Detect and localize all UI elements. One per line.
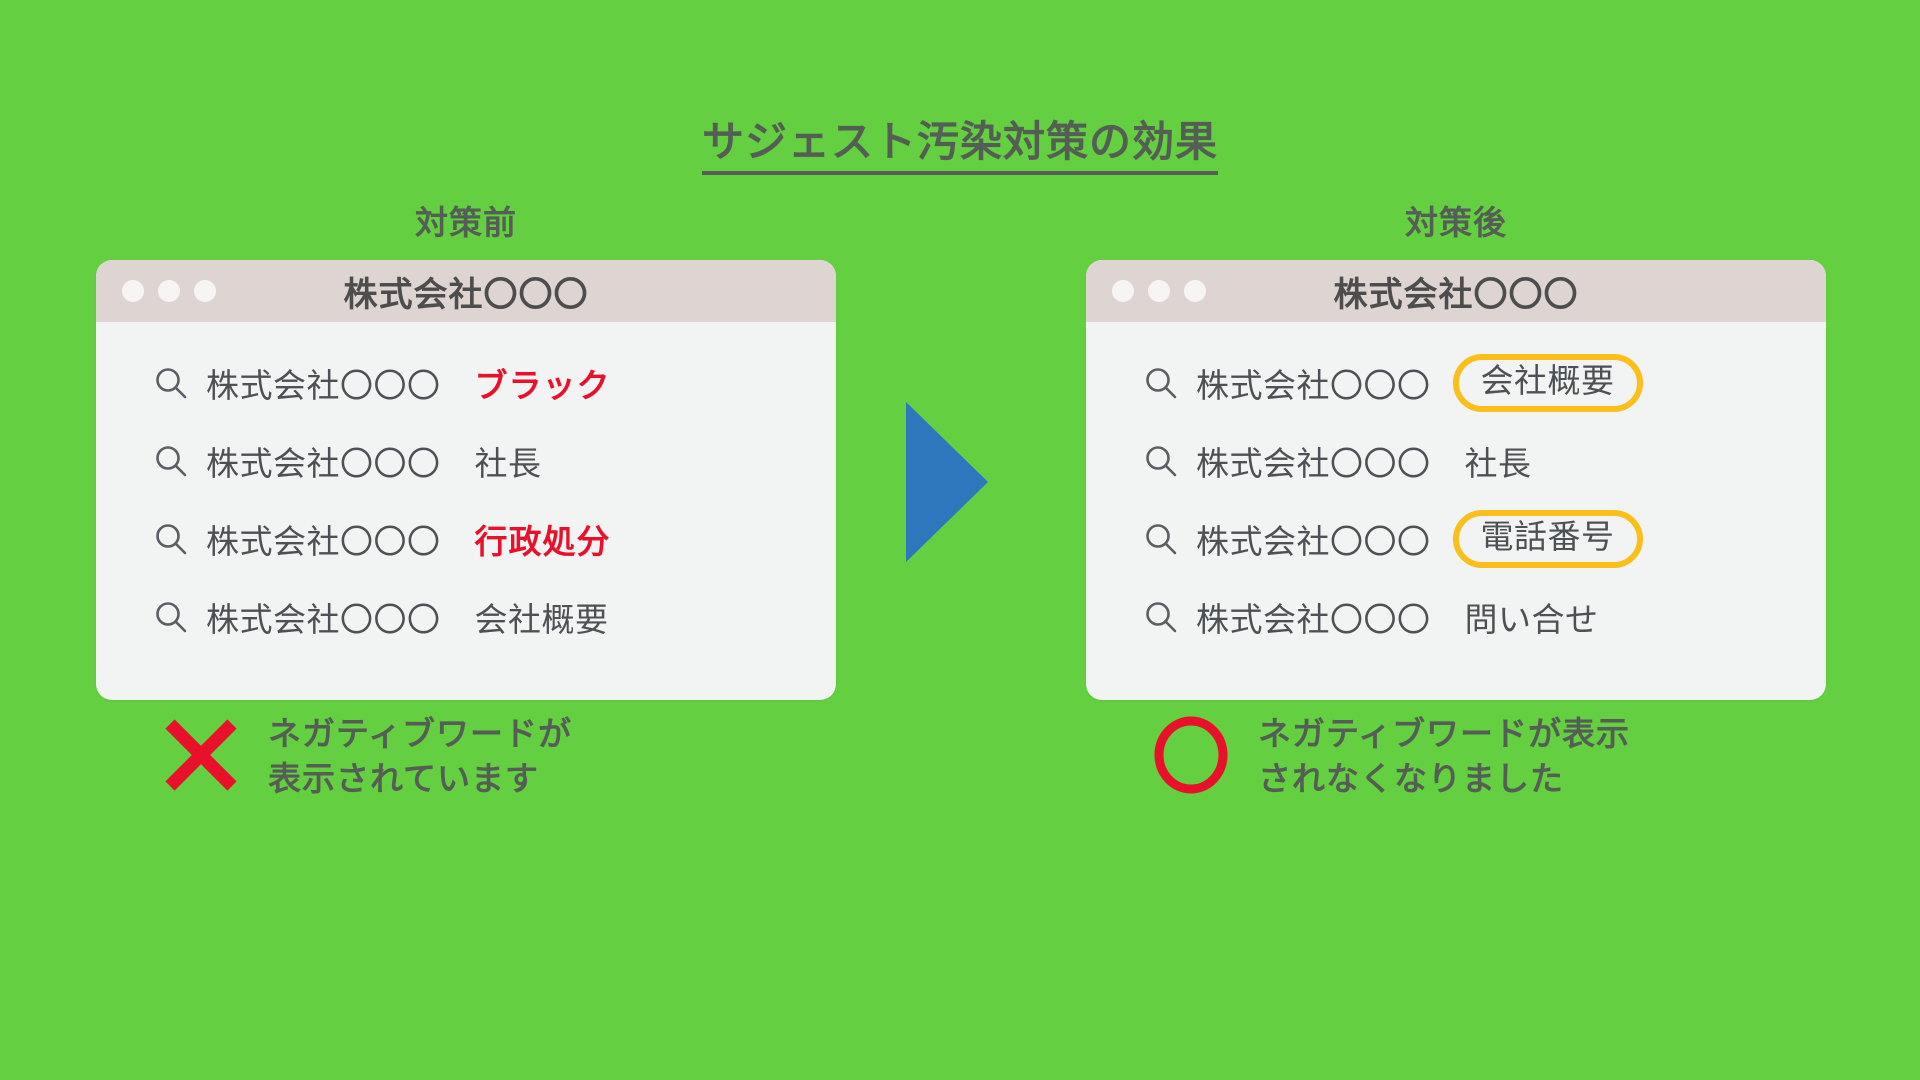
suggest-keyword: 社長 (475, 437, 542, 485)
search-icon (1144, 522, 1178, 556)
search-icon (1144, 444, 1178, 478)
close-dot-icon[interactable] (122, 280, 144, 302)
suggest-row[interactable]: 株式会社〇〇〇 問い合せ (1086, 578, 1826, 656)
arrow-right-icon (906, 402, 988, 562)
window-controls-before (122, 280, 216, 302)
search-icon (1144, 366, 1178, 400)
titlebar-before: 株式会社〇〇〇 (96, 260, 836, 322)
suggest-keyword: 問い合せ (1465, 593, 1599, 641)
search-icon (154, 600, 188, 634)
search-icon (1144, 600, 1178, 634)
suggest-row[interactable]: 株式会社〇〇〇 会社概要 (96, 578, 836, 656)
suggest-keyword: 社長 (1465, 437, 1532, 485)
suggest-row[interactable]: 株式会社〇〇〇 ブラック (96, 344, 836, 422)
panel-after-caption: 対策後 (1086, 196, 1826, 244)
suggest-query: 株式会社〇〇〇 (1196, 593, 1431, 641)
close-dot-icon[interactable] (1112, 280, 1134, 302)
maximize-dot-icon[interactable] (1184, 280, 1206, 302)
suggest-query: 株式会社〇〇〇 (206, 437, 441, 485)
note-after-text: ネガティブワードが表示 されなくなりました (1258, 712, 1630, 802)
suggest-query: 株式会社〇〇〇 (1196, 515, 1431, 563)
suggest-row[interactable]: 株式会社〇〇〇 電話番号 (1086, 500, 1826, 578)
suggest-query: 株式会社〇〇〇 (1196, 359, 1431, 407)
page-title: サジェスト汚染対策の効果 (0, 108, 1920, 169)
minimize-dot-icon[interactable] (158, 280, 180, 302)
suggest-query: 株式会社〇〇〇 (206, 593, 441, 641)
suggest-row[interactable]: 株式会社〇〇〇 社長 (1086, 422, 1826, 500)
window-controls-after (1112, 280, 1206, 302)
page-title-text: サジェスト汚染対策の効果 (702, 117, 1218, 175)
note-after: ネガティブワードが表示 されなくなりました (1150, 712, 1630, 802)
panel-after: 対策後 株式会社〇〇〇 株式会社〇〇〇 会社概要 株式会 (1086, 196, 1826, 700)
suggest-list-after: 株式会社〇〇〇 会社概要 株式会社〇〇〇 社長 株式会社〇〇〇 電話番号 (1086, 322, 1826, 674)
circle-mark-icon (1150, 714, 1232, 800)
suggest-list-before: 株式会社〇〇〇 ブラック 株式会社〇〇〇 社長 株式会社〇〇〇 行政処分 (96, 322, 836, 674)
suggest-keyword: ブラック (475, 359, 611, 407)
cross-mark-icon (160, 714, 242, 800)
note-before: ネガティブワードが 表示されています (160, 712, 572, 802)
search-icon (154, 444, 188, 478)
suggest-query: 株式会社〇〇〇 (206, 359, 441, 407)
minimize-dot-icon[interactable] (1148, 280, 1170, 302)
browser-window-after: 株式会社〇〇〇 株式会社〇〇〇 会社概要 株式会社〇〇〇 社長 (1086, 260, 1826, 700)
suggest-row[interactable]: 株式会社〇〇〇 行政処分 (96, 500, 836, 578)
suggest-keyword: 会社概要 (475, 593, 609, 641)
suggest-query: 株式会社〇〇〇 (1196, 437, 1431, 485)
maximize-dot-icon[interactable] (194, 280, 216, 302)
suggest-row[interactable]: 株式会社〇〇〇 社長 (96, 422, 836, 500)
suggest-keyword-highlighted: 会社概要 (1453, 354, 1643, 412)
suggest-keyword: 行政処分 (475, 515, 611, 563)
panel-before: 対策前 株式会社〇〇〇 株式会社〇〇〇 ブラック 株式会 (96, 196, 836, 700)
suggest-row[interactable]: 株式会社〇〇〇 会社概要 (1086, 344, 1826, 422)
suggest-keyword-highlighted: 電話番号 (1453, 510, 1643, 568)
search-icon (154, 366, 188, 400)
titlebar-after: 株式会社〇〇〇 (1086, 260, 1826, 322)
panel-before-caption: 対策前 (96, 196, 836, 244)
browser-window-before: 株式会社〇〇〇 株式会社〇〇〇 ブラック 株式会社〇〇〇 社長 (96, 260, 836, 700)
note-before-text: ネガティブワードが 表示されています (268, 712, 572, 802)
search-icon (154, 522, 188, 556)
suggest-query: 株式会社〇〇〇 (206, 515, 441, 563)
